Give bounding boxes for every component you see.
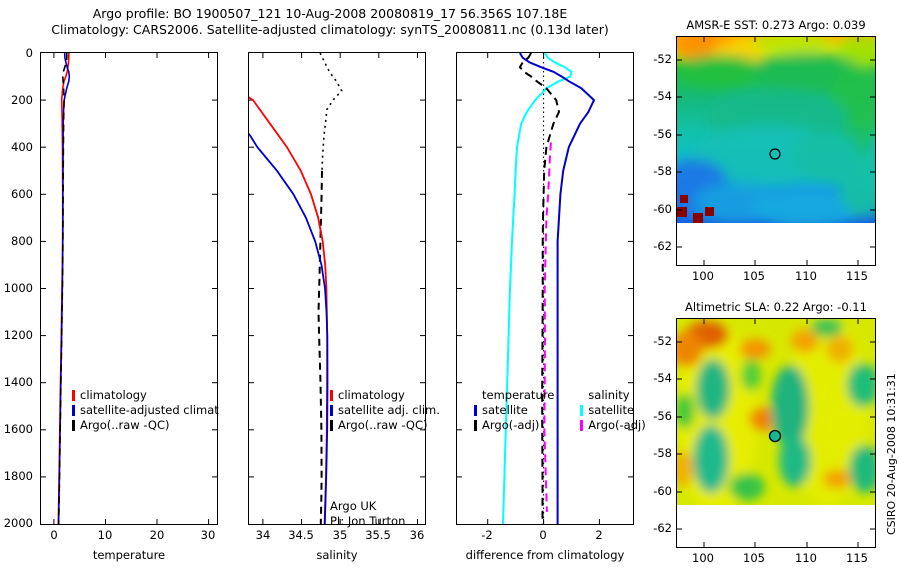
sst-ytick--52: -52 (644, 52, 672, 66)
sla-xtick-110: 110 (791, 551, 821, 565)
legend-label-satellite-adjusted: satellite adj. clim. (338, 403, 440, 418)
legend-item-argo: Argo(..raw -QC) (330, 418, 440, 433)
depth-tick-400: 400 (0, 140, 33, 154)
difference-axis-label: difference from climatology (446, 548, 644, 562)
legend-item-temperature-satellite: satellite (474, 403, 554, 418)
argo-color-swatch (72, 420, 75, 431)
satellite-color-swatch (474, 405, 477, 416)
salinity-argo-adj-color-swatch (580, 420, 583, 431)
legend-item-climatology: climatology (72, 388, 219, 403)
figure-root: Argo profile: BO 1900507_121 10-Aug-2008… (0, 0, 900, 580)
legend-label-temperature-satellite: satellite (482, 403, 528, 418)
sst-ytick--56: -56 (644, 127, 672, 141)
difference-profile-plot (457, 53, 633, 524)
difference-xtick-2: 2 (586, 528, 612, 542)
sst-map-title: AMSR-E SST: 0.273 Argo: 0.039 (660, 18, 892, 32)
difference-xtick-neg2: -2 (474, 528, 500, 542)
figure-title-line2: Climatology: CARS2006. Satellite-adjuste… (0, 22, 660, 38)
difference-legend-salinity-column: salinity satellite Argo(-adj) (580, 388, 645, 433)
legend-item-salinity-argo-adj: Argo(-adj) (580, 418, 645, 433)
legend-item-salinity-satellite: satellite (580, 403, 645, 418)
sst-xtick-105: 105 (739, 269, 769, 283)
legend-label-salinity-argo-adj: Argo(-adj) (588, 418, 645, 433)
csiro-timestamp: CSIRO 20-Aug-2008 10:31:31 (885, 373, 898, 535)
temperature-xtick-0: 0 (42, 528, 66, 542)
sst-map (676, 36, 876, 266)
salinity-axis-label: salinity (248, 548, 426, 562)
legend-label-satellite-adjusted: satellite-adjusted climatology (80, 403, 219, 418)
sst-ytick--60: -60 (644, 202, 672, 216)
depth-tick-600: 600 (0, 187, 33, 201)
figure-title-line1: Argo profile: BO 1900507_121 10-Aug-2008… (0, 6, 660, 22)
argo-program-name: Argo UK (330, 499, 405, 514)
sla-map-plot (677, 319, 875, 547)
difference-legend-temperature-column: temperature satellite Argo(-adj) (474, 388, 554, 433)
sla-ytick--60: -60 (644, 484, 672, 498)
depth-tick-0: 0 (0, 46, 33, 60)
temperature-xtick-20: 20 (145, 528, 169, 542)
sst-ytick--54: -54 (644, 89, 672, 103)
salinity-xtick-35: 35 (327, 528, 353, 542)
sla-xtick-100: 100 (688, 551, 718, 565)
sla-field (677, 319, 875, 514)
salinity-xtick-35p5: 35.5 (363, 528, 393, 542)
argo-adj-color-swatch (474, 420, 477, 431)
depth-tick-1400: 1400 (0, 375, 33, 389)
legend-item-satellite-adjusted: satellite adj. clim. (330, 403, 440, 418)
sla-ytick--54: -54 (644, 371, 672, 385)
legend-label-temperature-argo-adj: Argo(-adj) (482, 418, 539, 433)
legend-item-temperature-argo-adj: Argo(-adj) (474, 418, 554, 433)
legend-item-satellite-adjusted: satellite-adjusted climatology (72, 403, 219, 418)
legend-label-argo: Argo(..raw -QC) (80, 418, 170, 433)
salinity-xtick-34p5: 34.5 (286, 528, 316, 542)
depth-tick-800: 800 (0, 234, 33, 248)
depth-tick-1800: 1800 (0, 469, 33, 483)
salinity-xtick-34: 34 (250, 528, 276, 542)
legend-label-climatology: climatology (80, 388, 147, 403)
sst-xtick-115: 115 (842, 269, 872, 283)
sst-map-plot (677, 37, 875, 265)
satellite-color-swatch (330, 405, 333, 416)
temperature-axis-label: temperature (40, 548, 218, 562)
salinity-legend: climatology satellite adj. clim. Argo(..… (330, 388, 440, 433)
sst-ytick--58: -58 (644, 164, 672, 178)
sla-map-title: Altimetric SLA: 0.22 Argo: -0.11 (660, 300, 892, 314)
salinity-profile-plot (249, 53, 425, 524)
salinity-satellite-color-swatch (580, 405, 583, 416)
difference-profile-panel (456, 52, 634, 525)
sla-xtick-115: 115 (842, 551, 872, 565)
sla-xtick-105: 105 (739, 551, 769, 565)
depth-tick-2000: 2000 (0, 516, 33, 530)
sla-ytick--56: -56 (644, 409, 672, 423)
salinity-xtick-36: 36 (404, 528, 430, 542)
temperature-profile-panel (40, 52, 218, 525)
temperature-xtick-30: 30 (196, 528, 220, 542)
argo-color-swatch (330, 420, 333, 431)
depth-tick-1000: 1000 (0, 281, 33, 295)
sst-field (677, 37, 875, 227)
climatology-color-swatch (72, 390, 75, 401)
sst-xtick-110: 110 (791, 269, 821, 283)
sla-map (676, 318, 876, 548)
legend-label-salinity-satellite: satellite (588, 403, 634, 418)
depth-tick-1600: 1600 (0, 422, 33, 436)
profile-location-marker (770, 431, 781, 442)
legend-item-climatology: climatology (330, 388, 440, 403)
legend-header-temperature: temperature (474, 388, 554, 403)
temperature-xtick-10: 10 (93, 528, 117, 542)
argo-pi-name: PI: Jon Turton (330, 514, 405, 529)
difference-xtick-0: 0 (530, 528, 556, 542)
temperature-profile-plot (41, 53, 217, 524)
depth-tick-1200: 1200 (0, 328, 33, 342)
legend-label-climatology: climatology (338, 388, 405, 403)
argo-program-note: Argo UK PI: Jon Turton (330, 499, 405, 529)
depth-tick-200: 200 (0, 93, 33, 107)
sla-ytick--52: -52 (644, 334, 672, 348)
sla-ytick--62: -62 (644, 521, 672, 535)
legend-header-salinity: salinity (580, 388, 645, 403)
sst-xtick-100: 100 (688, 269, 718, 283)
legend-item-argo: Argo(..raw -QC) (72, 418, 219, 433)
sla-ytick--58: -58 (644, 446, 672, 460)
difference-legend: temperature satellite Argo(-adj) salinit… (474, 388, 646, 433)
climatology-color-swatch (330, 390, 333, 401)
sst-ytick--62: -62 (644, 239, 672, 253)
temperature-legend: climatology satellite-adjusted climatolo… (72, 388, 219, 438)
salinity-profile-panel (248, 52, 426, 525)
satellite-color-swatch (72, 405, 75, 416)
legend-label-argo: Argo(..raw -QC) (338, 418, 428, 433)
